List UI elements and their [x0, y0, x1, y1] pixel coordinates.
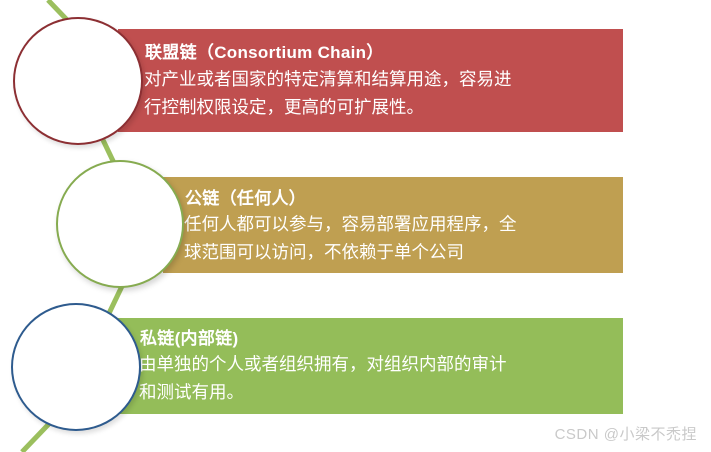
watermark-text: CSDN @小梁不禿捏 — [555, 423, 697, 444]
diagram-canvas: 联盟链（Consortium Chain） 对产业或者国家的特定清算和结算用途，… — [0, 0, 711, 452]
node-circle-public — [56, 160, 184, 288]
callout-title-public: 公链（任何人） — [185, 184, 306, 209]
node-circle-private — [11, 303, 141, 431]
callout-title-private: 私链(内部链) — [140, 324, 238, 349]
callout-bar-private: 私链(内部链) 由单独的个人或者组织拥有，对组织内部的审计 和测试有用。 — [118, 318, 623, 414]
callout-bar-consortium: 联盟链（Consortium Chain） 对产业或者国家的特定清算和结算用途，… — [118, 29, 623, 132]
callout-bar-public: 公链（任何人） 任何人都可以参与，容易部署应用程序，全 球范围可以访问，不依赖于… — [163, 177, 623, 273]
callout-body-consortium: 对产业或者国家的特定清算和结算用途，容易进 行控制权限设定，更高的可扩展性。 — [144, 65, 622, 121]
callout-title-consortium: 联盟链（Consortium Chain） — [145, 38, 384, 63]
node-circle-consortium — [13, 17, 143, 145]
callout-body-private: 由单独的个人或者组织拥有，对组织内部的审计 和测试有用。 — [139, 350, 617, 406]
callout-body-public: 任何人都可以参与，容易部署应用程序，全 球范围可以访问，不依赖于单个公司 — [184, 210, 620, 266]
